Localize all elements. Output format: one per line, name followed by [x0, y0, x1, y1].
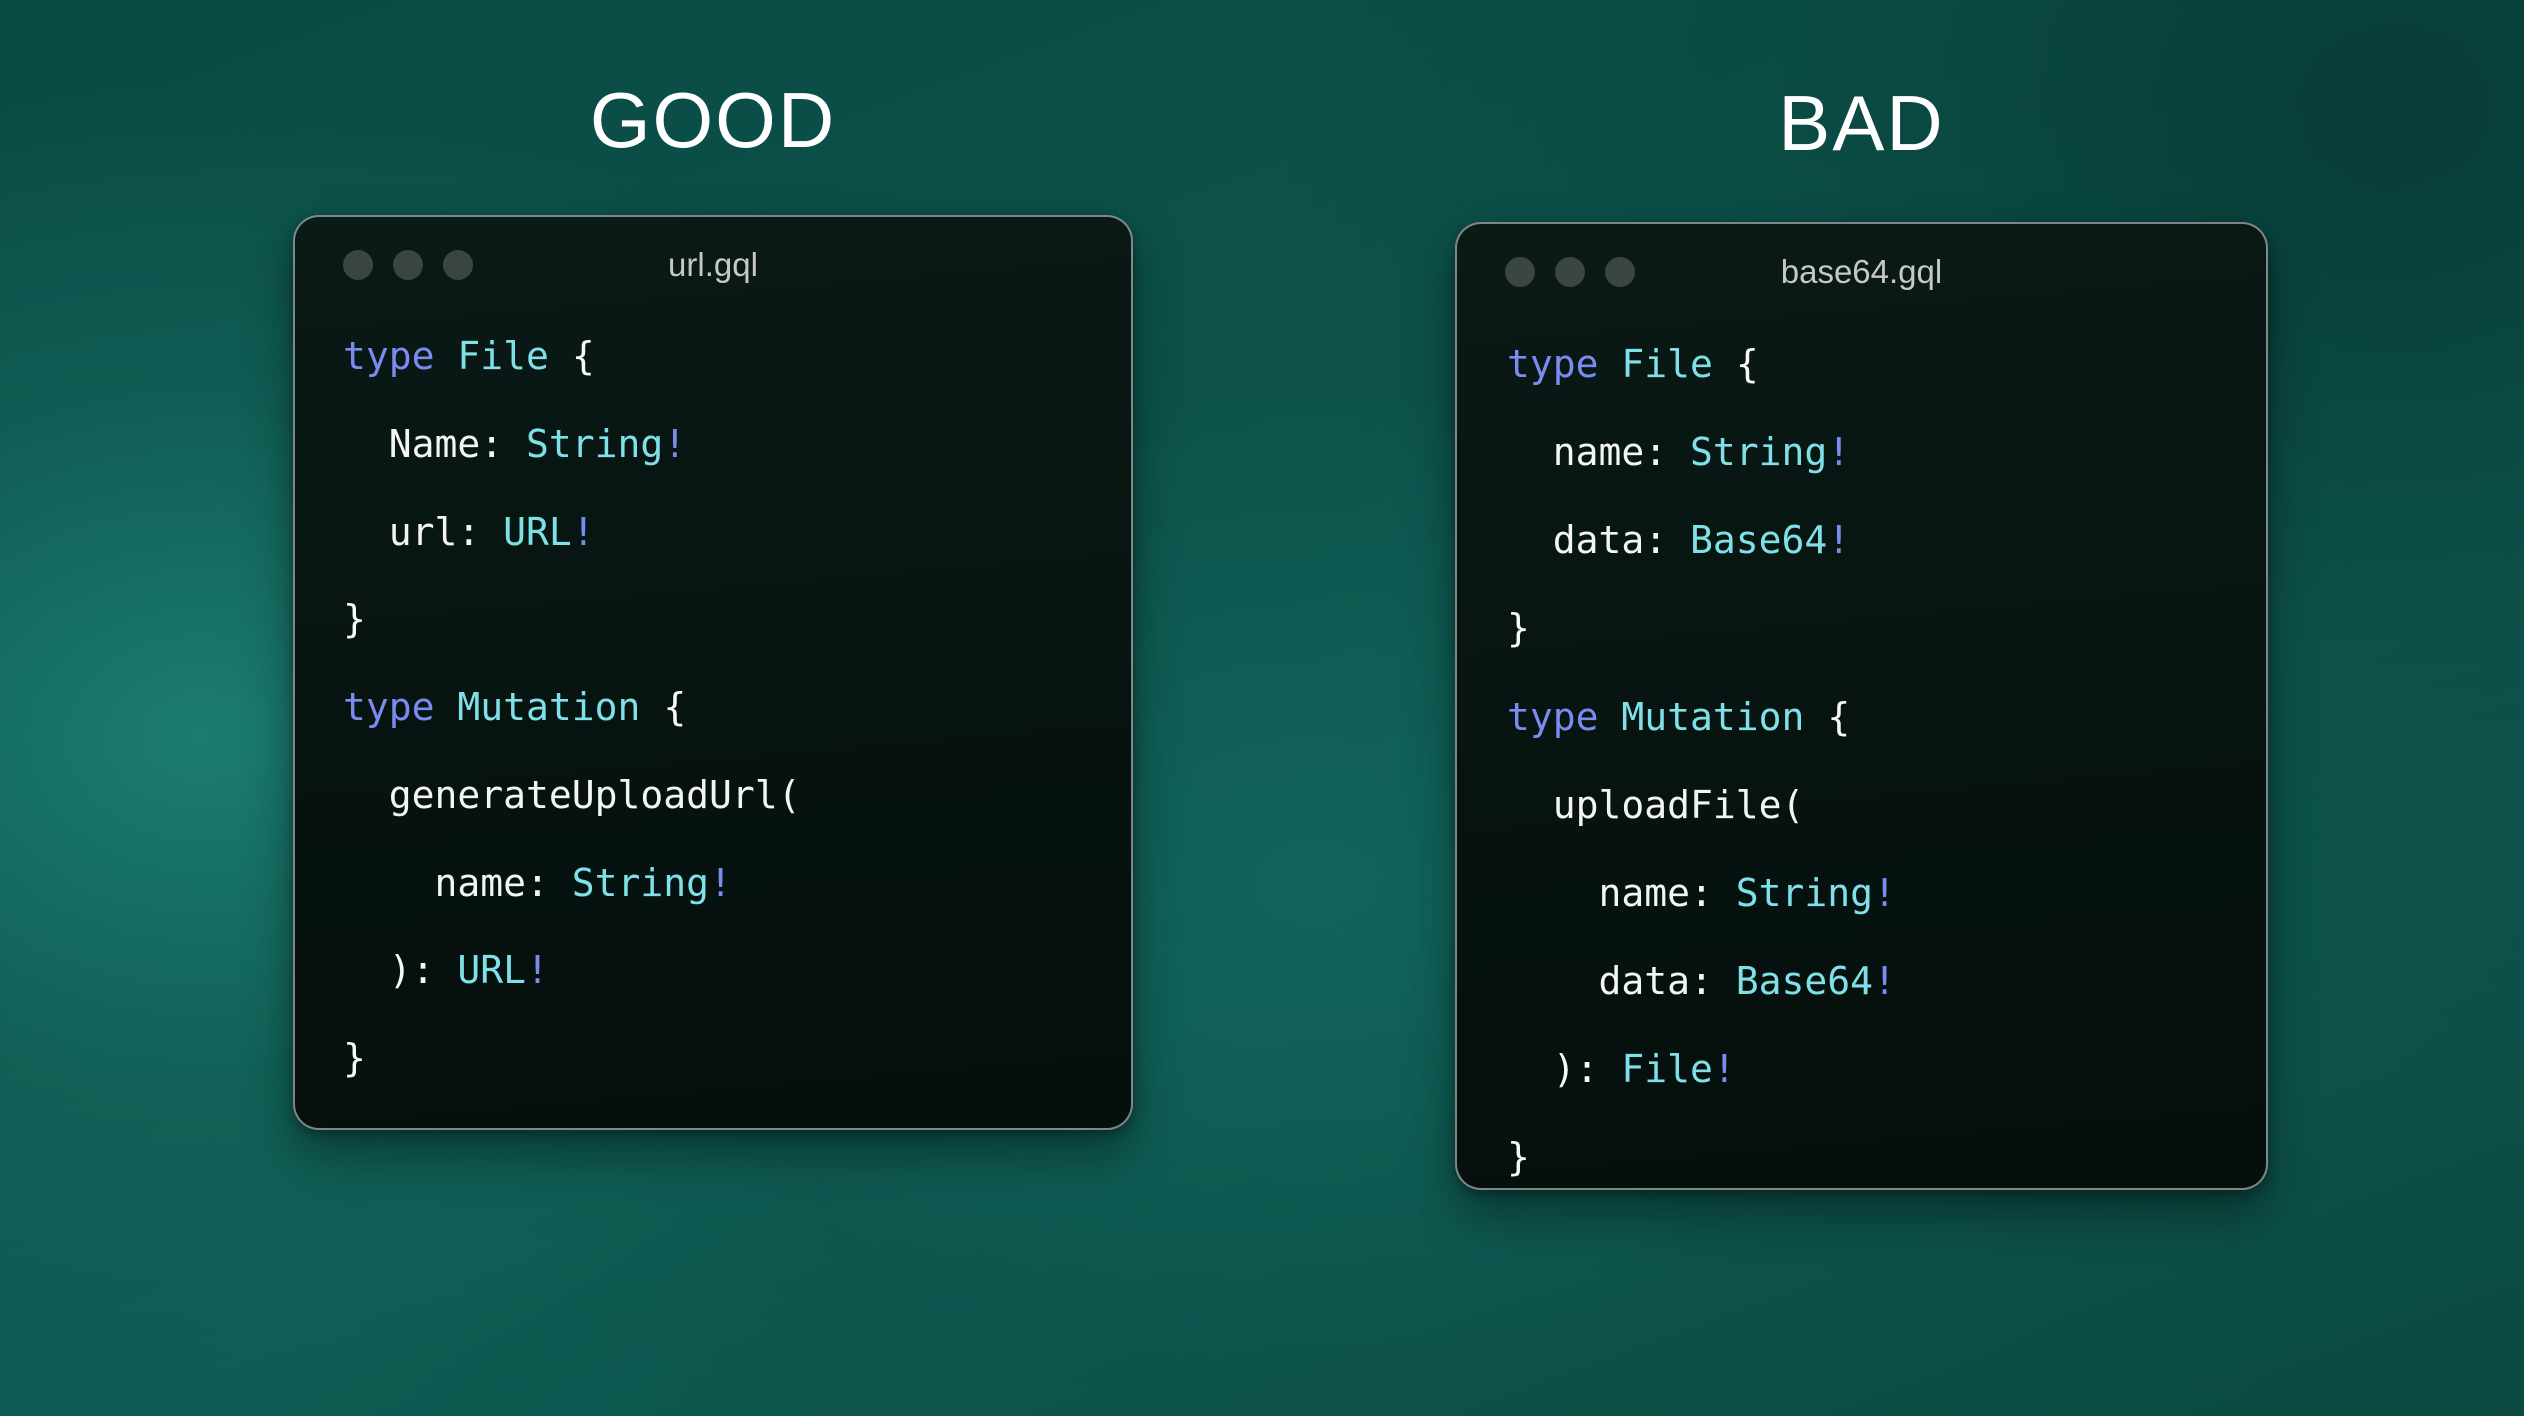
code-token-punct: } [343, 1036, 366, 1080]
code-line: name: String! [343, 862, 1131, 906]
code-token-type: String [526, 422, 663, 466]
code-line: } [343, 598, 1131, 642]
code-token-plain [640, 685, 663, 729]
code-token-plain [480, 510, 503, 554]
code-token-field: url: [389, 510, 481, 554]
code-token-kw: type [1507, 695, 1599, 739]
code-token-field: name: [435, 861, 549, 905]
minimize-dot-icon[interactable] [1555, 257, 1585, 287]
code-token-bang: ! [1827, 518, 1850, 562]
code-token-punct: ): [1507, 1047, 1621, 1091]
code-token-plain [1667, 430, 1690, 474]
code-token-field: name: [1553, 430, 1667, 474]
code-line: type File { [343, 335, 1131, 379]
code-window-bad: base64.gql type File { name: String! dat… [1455, 222, 2268, 1190]
code-token-plain [1507, 518, 1553, 562]
code-line: type Mutation { [343, 686, 1131, 730]
code-token-plain [1507, 430, 1553, 474]
code-token-bang: ! [1873, 959, 1896, 1003]
code-token-type: Base64 [1736, 959, 1873, 1003]
code-token-field: Name: [389, 422, 503, 466]
code-token-plain [549, 334, 572, 378]
close-dot-icon[interactable] [1505, 257, 1535, 287]
code-token-plain [1599, 695, 1622, 739]
code-token-plain [435, 685, 458, 729]
code-line: } [343, 1037, 1131, 1081]
code-token-punct: ): [343, 948, 457, 992]
code-token-plain [1713, 871, 1736, 915]
code-token-punct: { [572, 334, 595, 378]
code-token-bang: ! [1827, 430, 1850, 474]
code-token-bang: ! [709, 861, 732, 905]
code-token-field: data: [1599, 959, 1713, 1003]
maximize-dot-icon[interactable] [1605, 257, 1635, 287]
code-token-field: uploadFile( [1553, 783, 1805, 827]
code-token-bang: ! [1713, 1047, 1736, 1091]
code-token-plain [343, 861, 435, 905]
code-token-plain [1507, 871, 1599, 915]
code-token-kw: type [1507, 342, 1599, 386]
code-token-bang: ! [572, 510, 595, 554]
code-token-field: generateUploadUrl( [389, 773, 801, 817]
code-token-plain [343, 773, 389, 817]
code-token-type: File [1621, 342, 1713, 386]
code-token-type: Mutation [457, 685, 640, 729]
code-line: type Mutation { [1507, 695, 2266, 739]
code-token-plain [1667, 518, 1690, 562]
code-token-plain [1713, 959, 1736, 1003]
code-token-type: String [572, 861, 709, 905]
code-token-bang: ! [663, 422, 686, 466]
code-line: } [1507, 606, 2266, 650]
code-line: ): URL! [343, 949, 1131, 993]
code-token-plain [1804, 695, 1827, 739]
code-token-field: name: [1599, 871, 1713, 915]
code-token-punct: { [1827, 695, 1850, 739]
code-line: Name: String! [343, 423, 1131, 467]
code-line: ): File! [1507, 1047, 2266, 1091]
panel-title-bad: BAD [1455, 78, 2268, 169]
comparison-stage: GOOD url.gql type File { Name: String! u… [0, 0, 2524, 1416]
code-block-good: type File { Name: String! url: URL! } ty… [295, 313, 1131, 1081]
code-token-plain [1713, 342, 1736, 386]
code-line: } [1507, 1135, 2266, 1179]
code-token-plain [503, 422, 526, 466]
code-token-type: File [1621, 1047, 1713, 1091]
window-titlebar-good: url.gql [295, 217, 1131, 313]
code-line: data: Base64! [1507, 518, 2266, 562]
code-token-plain [549, 861, 572, 905]
code-token-punct: { [1736, 342, 1759, 386]
code-token-type: URL [457, 948, 526, 992]
code-token-type: File [457, 334, 549, 378]
code-token-punct: } [1507, 1135, 1530, 1179]
code-line: generateUploadUrl( [343, 774, 1131, 818]
code-token-type: String [1690, 430, 1827, 474]
window-controls-good [343, 250, 473, 280]
code-line: url: URL! [343, 511, 1131, 555]
minimize-dot-icon[interactable] [393, 250, 423, 280]
code-token-kw: type [343, 334, 435, 378]
code-line: uploadFile( [1507, 783, 2266, 827]
code-line: type File { [1507, 342, 2266, 386]
code-token-plain [1507, 783, 1553, 827]
window-controls-bad [1505, 257, 1635, 287]
code-token-plain [1507, 959, 1599, 1003]
code-token-plain [435, 334, 458, 378]
code-line: name: String! [1507, 430, 2266, 474]
code-token-type: URL [503, 510, 572, 554]
code-token-type: Base64 [1690, 518, 1827, 562]
panel-title-good: GOOD [293, 75, 1133, 166]
maximize-dot-icon[interactable] [443, 250, 473, 280]
code-token-punct: } [1507, 606, 1530, 650]
code-line: name: String! [1507, 871, 2266, 915]
code-token-type: String [1736, 871, 1873, 915]
code-token-kw: type [343, 685, 435, 729]
code-token-field: data: [1553, 518, 1667, 562]
code-window-good: url.gql type File { Name: String! url: U… [293, 215, 1133, 1130]
code-token-type: Mutation [1621, 695, 1804, 739]
code-line: data: Base64! [1507, 959, 2266, 1003]
code-token-plain [343, 422, 389, 466]
code-block-bad: type File { name: String! data: Base64! … [1457, 320, 2266, 1179]
code-token-plain [343, 510, 389, 554]
code-token-bang: ! [526, 948, 549, 992]
window-titlebar-bad: base64.gql [1457, 224, 2266, 320]
code-token-bang: ! [1873, 871, 1896, 915]
code-token-punct: } [343, 597, 366, 641]
close-dot-icon[interactable] [343, 250, 373, 280]
code-token-punct: { [663, 685, 686, 729]
code-token-plain [1599, 342, 1622, 386]
